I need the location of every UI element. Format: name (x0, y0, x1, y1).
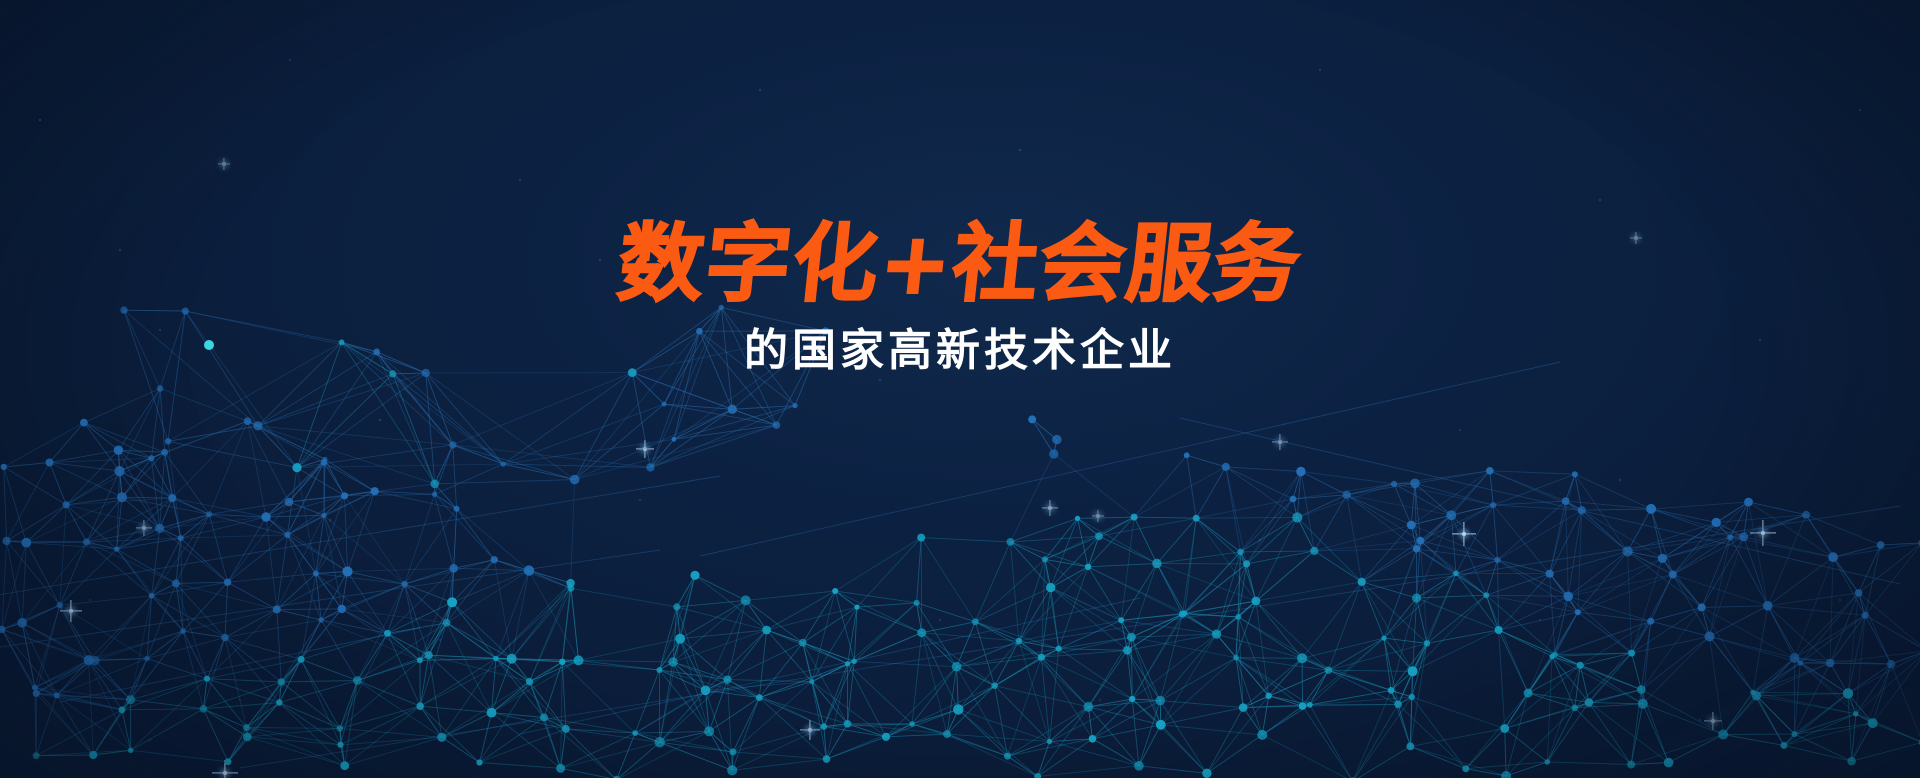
banner-headline: 数字化+社会服务 (0, 222, 1920, 307)
hero-banner: 数字化+社会服务 的国家高新技术企业 (0, 0, 1920, 778)
sparkle-star (218, 158, 230, 170)
banner-text-block: 数字化+社会服务 的国家高新技术企业 (0, 222, 1920, 373)
banner-subheadline: 的国家高新技术企业 (0, 329, 1920, 373)
